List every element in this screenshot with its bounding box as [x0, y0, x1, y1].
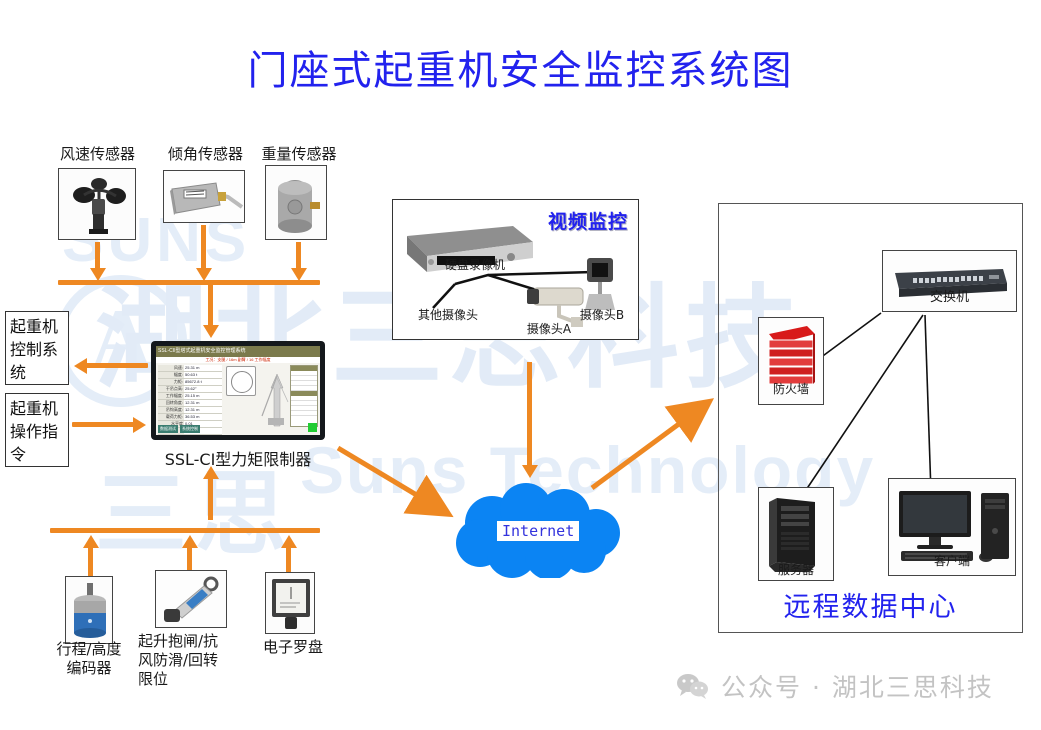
internet-label: Internet — [497, 521, 579, 541]
connector-weight-to-bus — [296, 242, 301, 270]
hmi-crane-graphic — [258, 368, 292, 428]
top-sensor-bus — [58, 280, 320, 285]
connector-controller-to-control-system — [86, 363, 148, 368]
sensor-photo-limit-switch — [155, 570, 227, 628]
controller-caption: SSL-CI型力矩限制器 — [140, 450, 336, 469]
arrow-to-control-system — [74, 358, 87, 374]
bottom-sensor-bus — [50, 528, 320, 533]
hmi-button-control[interactable]: 系统控制 — [180, 425, 200, 433]
video-label-camera-b: 摄像头B — [569, 306, 635, 325]
textbox-command-line2: 操作指 — [10, 420, 66, 443]
arrow-bottom-bus-to-controller — [203, 466, 219, 479]
footer-text: 公众号 · 湖北三思科技 — [721, 668, 994, 704]
wechat-icon — [676, 672, 710, 700]
hmi-key: 吊钩高度: — [158, 407, 184, 413]
textbox-command-line3: 令 — [10, 443, 66, 466]
arrow-video-to-cloud — [522, 465, 538, 478]
sensor-label-compass: 电子罗盘 — [248, 638, 338, 657]
hmi-key: 力矩: — [158, 379, 184, 385]
video-label-other-cameras: 其他摄像头 — [403, 306, 493, 325]
hmi-key: 幅度: — [158, 372, 184, 378]
arrow-cloud-to-datacenter — [588, 388, 728, 498]
hmi-key: 回转角度: — [158, 400, 184, 406]
hmi-header: SSL-CII型塔式起重机安全监控管理系统 — [156, 346, 320, 357]
connector-tilt-to-bus — [201, 225, 206, 270]
hmi-screen: SSL-CII型塔式起重机安全监控管理系统 工况：支腿 / 16m 副臂 / 1… — [156, 346, 320, 435]
datacenter-label-client: 客户端 — [889, 552, 1015, 571]
arrow-to-controller — [133, 417, 146, 433]
sensor-photo-electronic-compass — [265, 572, 315, 634]
hmi-row: 幅度:50.63 t — [158, 372, 222, 379]
footer: 公众号 · 湖北三思科技 — [676, 668, 994, 704]
arrow-bus-to-controller — [203, 325, 219, 338]
sensor-photo-load-cell — [265, 165, 327, 240]
hmi-button-row: 数据测试 系统控制 — [158, 425, 200, 433]
hmi-key: 风速: — [158, 365, 184, 371]
connector-command-to-controller — [72, 422, 134, 427]
hmi-key: 载荷力矩: — [158, 414, 184, 420]
sensor-photo-rotary-encoder — [65, 576, 113, 644]
sensor-label-limit-switch: 起升抱闸/抗 风防滑/回转 限位 — [138, 632, 242, 689]
datacenter-label-firewall: 防火墙 — [759, 380, 823, 399]
textbox-control-line3: 统 — [10, 361, 66, 384]
hmi-key: 工作幅度: — [158, 393, 184, 399]
hmi-value: 12.31 m — [184, 407, 222, 413]
hmi-row: 回转角度:12.31 m — [158, 400, 222, 407]
hmi-row: 干吊点高:25.62° — [158, 386, 222, 393]
connector-wind-to-bus — [95, 242, 100, 270]
encoder-label-line2: 编码器 — [34, 659, 144, 678]
hmi-alarm-panel — [290, 365, 318, 427]
sensor-label-encoder: 行程/高度 编码器 — [34, 640, 144, 678]
datacenter-label-server: 服务器 — [759, 561, 833, 580]
connector-bus-to-controller — [208, 285, 213, 327]
sensor-photo-inclinometer — [163, 170, 245, 223]
hmi-value: 25.31 m — [184, 365, 222, 371]
limitswitch-label-line1: 起升抱闸/抗 — [138, 632, 242, 651]
hmi-key: 干吊点高: — [158, 386, 184, 392]
datacenter-label-switch: 交换机 — [884, 288, 1015, 307]
hmi-value: 25.62° — [184, 386, 222, 392]
textbox-crane-control-system: 起重机 控制系 统 — [5, 311, 69, 385]
arrow-encoder-to-bus — [83, 535, 99, 548]
arrow-compass-to-bus — [281, 535, 297, 548]
hmi-row: 载荷力矩:36.53 m — [158, 414, 222, 421]
encoder-label-line1: 行程/高度 — [34, 640, 144, 659]
limitswitch-label-line3: 限位 — [138, 670, 242, 689]
hmi-status-indicator — [308, 423, 317, 432]
hmi-value: 12.31 m — [184, 400, 222, 406]
sensor-label-wind-speed: 风速传感器 — [40, 145, 155, 164]
connector-video-to-cloud — [527, 362, 532, 468]
hmi-row: 吊钩高度:12.31 m — [158, 407, 222, 414]
video-label-dvr: 硬盘录像机 — [427, 256, 523, 275]
hmi-row: 力矩:85672.8 t — [158, 379, 222, 386]
hmi-value: 36.53 m — [184, 414, 222, 420]
textbox-control-line1: 起重机 — [10, 315, 66, 338]
textbox-control-line2: 控制系 — [10, 338, 66, 361]
datacenter-title: 远程数据中心 — [718, 585, 1023, 624]
hmi-row: 工作幅度:25.15 m — [158, 393, 222, 400]
sensor-label-weight: 重量传感器 — [245, 145, 353, 164]
hmi-value: 25.15 m — [184, 393, 222, 399]
hmi-value: 50.63 t — [184, 372, 222, 378]
connector-bottom-bus-to-controller — [208, 478, 213, 520]
video-surveillance-panel: 视频监控 硬盘录像机 其他摄像头 摄像头A 摄像头B — [392, 199, 639, 340]
hmi-value: 85672.8 t — [184, 379, 222, 385]
hmi-subheader: 工况：支腿 / 16m 副臂 / 16 工作幅度 — [156, 357, 320, 363]
limitswitch-label-line2: 风防滑/回转 — [138, 651, 242, 670]
textbox-crane-operation-command: 起重机 操作指 令 — [5, 393, 69, 467]
page-title: 门座式起重机安全监控系统图 — [0, 38, 1041, 96]
hmi-slew-gauge — [226, 366, 256, 396]
diagram-canvas: SUNS 湖北三思科技 三思 Suns Technology 门座式起重机安全监… — [0, 0, 1041, 730]
hmi-row: 风速:25.31 m — [158, 365, 222, 372]
sensor-photo-anemometer — [58, 168, 136, 240]
torque-limiter-monitor: SSL-CII型塔式起重机安全监控管理系统 工况：支腿 / 16m 副臂 / 1… — [151, 341, 325, 440]
arrow-limitswitch-to-bus — [182, 535, 198, 548]
textbox-command-line1: 起重机 — [10, 397, 66, 420]
connector-encoder-to-bus — [88, 548, 93, 576]
hmi-button-test[interactable]: 数据测试 — [158, 425, 178, 433]
